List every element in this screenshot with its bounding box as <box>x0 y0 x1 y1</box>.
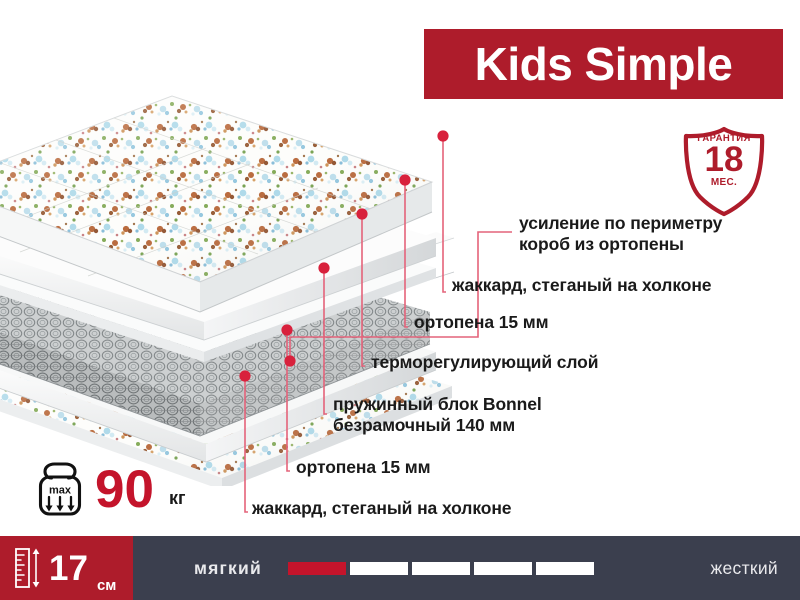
height-block: 17 см <box>0 536 133 600</box>
warranty-badge: ГАРАНТИЯ 18 МЕС. <box>676 123 772 219</box>
callout-jacquard-bottom: жаккард, стеганый на холконе <box>252 498 511 519</box>
firmness-segment-4[interactable] <box>474 562 532 575</box>
callout-jacquard-top: жаккард, стеганый на холконе <box>452 275 711 296</box>
max-load-block: max 90 кг <box>36 462 185 516</box>
shield-icon <box>676 123 772 219</box>
firmness-segments <box>288 562 594 575</box>
firmness-segment-5[interactable] <box>536 562 594 575</box>
firmness-segment-1[interactable] <box>288 562 346 575</box>
callout-thermoregulating-layer: терморегулирующий слой <box>371 352 598 373</box>
product-infographic: Kids Simple ГАРАНТИЯ 18 МЕС. усиление по… <box>0 0 800 600</box>
callout-orthofoam-bottom: ортопена 15 мм <box>296 457 430 478</box>
firmness-segment-2[interactable] <box>350 562 408 575</box>
svg-text:max: max <box>49 485 72 497</box>
firmness-hard-label: жесткий <box>710 558 778 579</box>
firmness-soft-label: мягкий <box>194 558 262 579</box>
callout-bonnel-spring-block: пружинный блок Bonnel безрамочный 140 мм <box>333 394 542 435</box>
firmness-segment-3[interactable] <box>412 562 470 575</box>
product-title-banner: Kids Simple <box>424 29 783 99</box>
max-load-unit: кг <box>169 488 186 516</box>
ruler-icon <box>14 547 42 589</box>
firmness-scale: мягкий жесткий <box>133 536 800 600</box>
height-unit: см <box>97 577 116 600</box>
page-title: Kids Simple <box>475 41 733 87</box>
kettlebell-icon: max <box>36 462 84 516</box>
max-load-value: 90 <box>95 463 154 516</box>
bottom-bar: 17 см мягкий жесткий <box>0 536 800 600</box>
callout-orthofoam-top: ортопена 15 мм <box>414 312 548 333</box>
callout-perimeter-reinforcement: усиление по периметру короб из ортопены <box>519 213 722 254</box>
height-value: 17 <box>49 551 88 586</box>
